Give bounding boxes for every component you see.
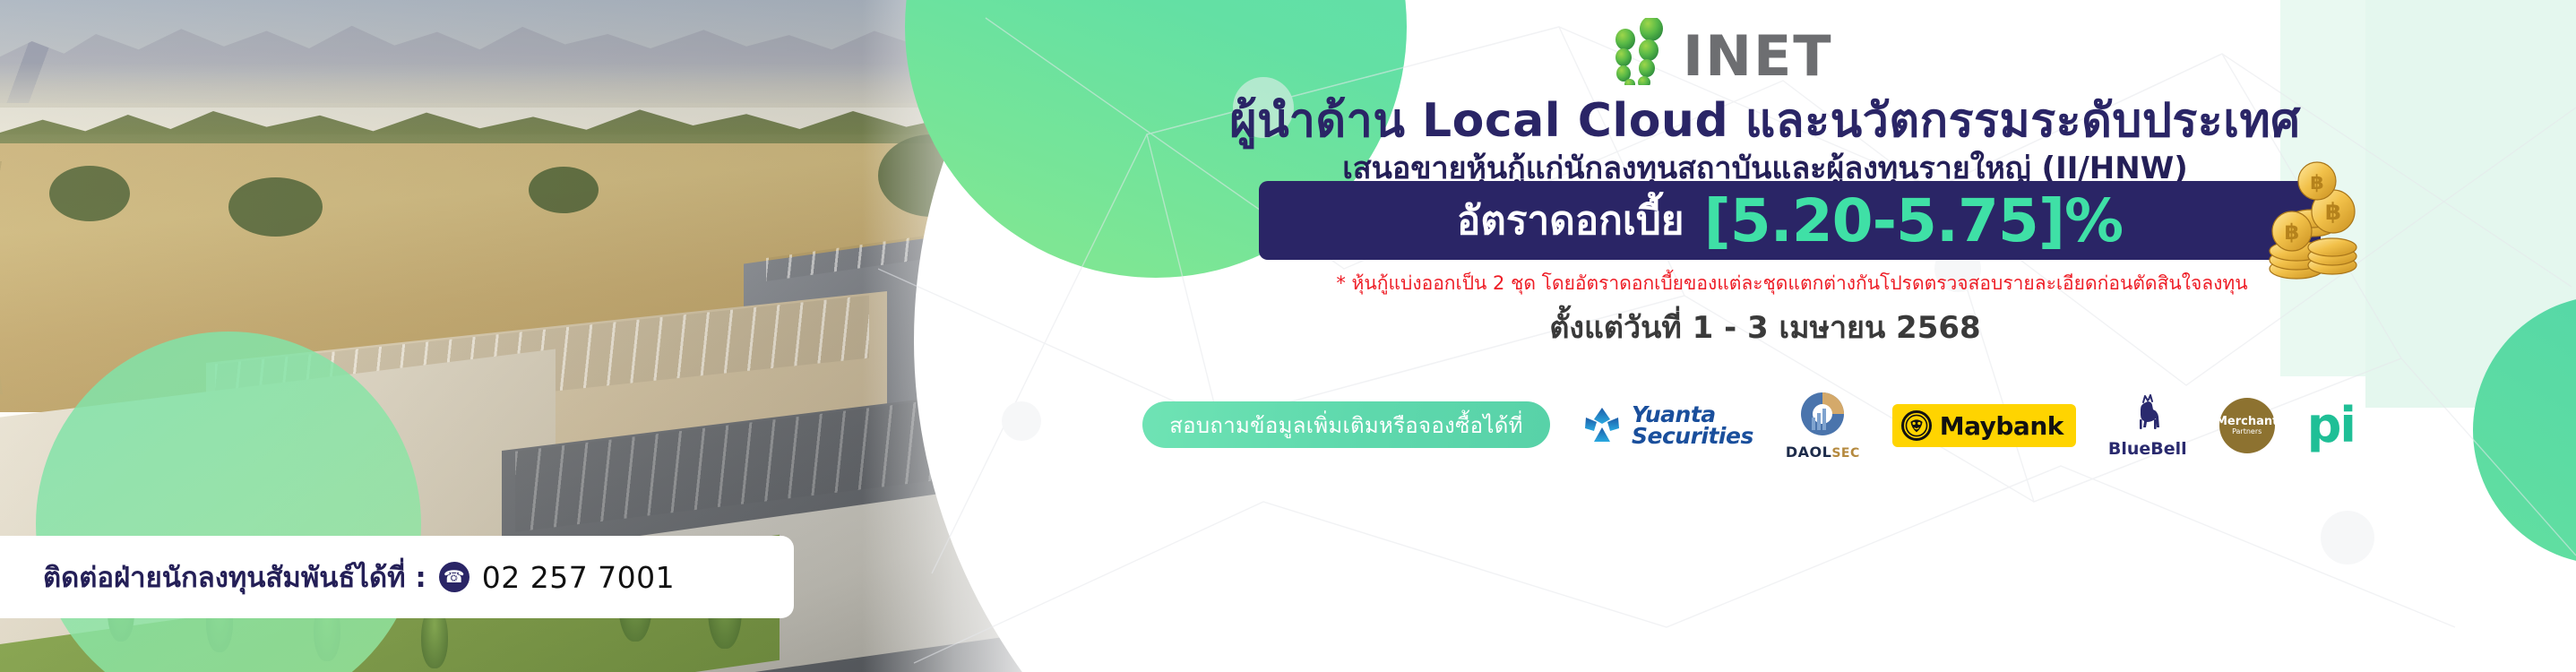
partner-logo-yuanta[interactable]: Yuanta Securities	[1581, 404, 1753, 447]
partner-logo-bluebell[interactable]: BlueBell	[2108, 392, 2187, 459]
inet-logo[interactable]: INET	[1604, 18, 1944, 85]
yuanta-wordmark: Yuanta Securities	[1632, 404, 1753, 447]
maybank-tiger-icon	[1901, 410, 1932, 441]
bluebell-deer-icon	[2127, 392, 2168, 434]
partner-logo-pi[interactable]: pi	[2307, 406, 2355, 444]
yuanta-star-icon	[1581, 405, 1623, 446]
daol-wordmark: DAOLSEC	[1786, 444, 1860, 461]
svg-text:฿: ฿	[2285, 220, 2300, 245]
maybank-wordmark: Maybank	[1940, 411, 2063, 441]
interest-rate-banner: อัตราดอกเบี้ย [5.20-5.75]%	[1259, 181, 2321, 260]
inet-dots-icon	[1604, 18, 1684, 85]
interest-rate-value: [5.20-5.75]%	[1704, 186, 2124, 255]
partner-logo-row: Yuanta Securities	[1581, 387, 2576, 464]
disclaimer-text: * หุ้นกู้แบ่งออกเป็น 2 ชุด โดยอัตราดอกเบ…	[1066, 269, 2518, 298]
contact-label: ติดต่อฝ่ายนักลงทุนสัมพันธ์ได้ที่ :	[43, 555, 426, 599]
offer-period-text: ตั้งแต่วันที่ 1 - 3 เมษายน 2568	[1066, 303, 2464, 351]
merchant-line2: Partners	[2232, 428, 2262, 435]
inquiry-cta-button[interactable]: สอบถามข้อมูลเพิ่มเติมหรือจองซื้อได้ที่	[1142, 401, 1550, 448]
svg-text:฿: ฿	[2310, 172, 2323, 194]
yuanta-line2: Securities	[1632, 426, 1753, 447]
daol-secondary: SEC	[1831, 446, 1859, 461]
partner-logo-daol[interactable]: DAOLSEC	[1786, 391, 1860, 461]
investor-relations-contact: ติดต่อฝ่ายนักลงทุนสัมพันธ์ได้ที่ : ☎ 02 …	[0, 536, 794, 618]
merchant-line1: Merchant	[2216, 416, 2278, 428]
svg-text:฿: ฿	[2325, 199, 2341, 226]
inet-logo-text: INET	[1683, 23, 1833, 89]
contact-phone-number[interactable]: 02 257 7001	[482, 560, 675, 595]
partner-logo-merchant[interactable]: Merchant Partners	[2219, 398, 2275, 453]
bluebell-wordmark: BlueBell	[2108, 439, 2187, 459]
daol-circle-icon	[1799, 391, 1846, 437]
partner-logo-maybank[interactable]: Maybank	[1892, 404, 2076, 447]
gold-coins-icon: ฿ ฿ ฿	[2256, 161, 2364, 280]
phone-icon: ☎	[439, 562, 470, 592]
daol-primary: DAOL	[1786, 444, 1831, 461]
promotional-banner: INET ผู้นำด้าน Local Cloud และนวัตกรรมระ…	[0, 0, 2576, 672]
interest-rate-label: อัตราดอกเบี้ย	[1457, 189, 1684, 252]
content-panel: INET ผู้นำด้าน Local Cloud และนวัตกรรมระ…	[1066, 0, 2576, 672]
